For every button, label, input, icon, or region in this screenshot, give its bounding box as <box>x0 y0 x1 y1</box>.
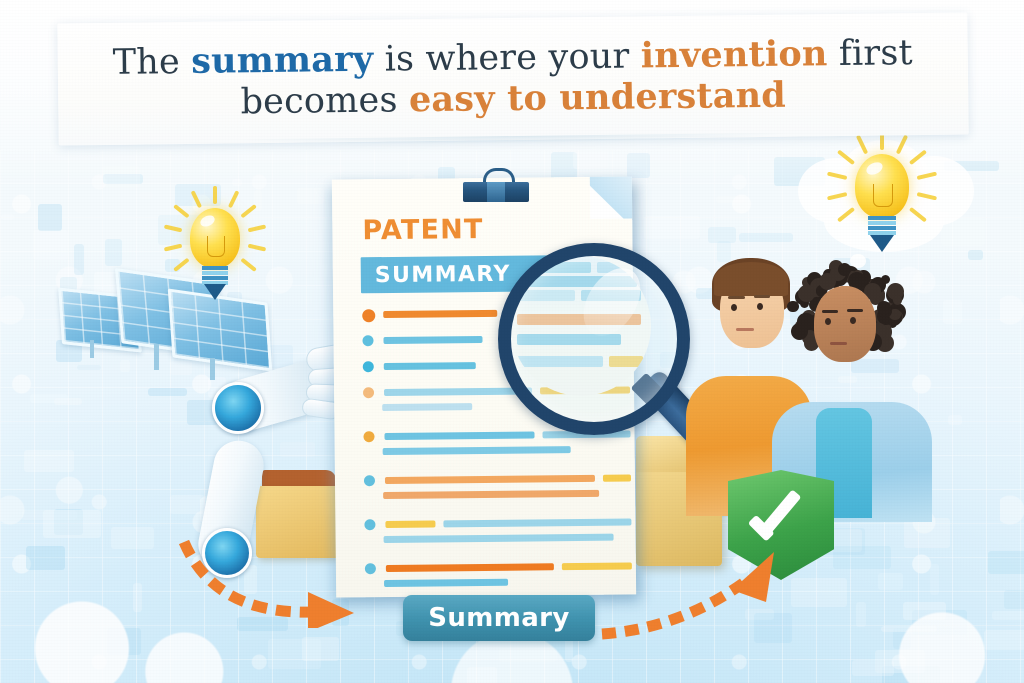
document-band-label: SUMMARY <box>375 262 511 288</box>
illustration-canvas: PATENT SUMMARY <box>0 0 1024 683</box>
document-text-line <box>383 310 497 318</box>
lightbulb-ray <box>213 186 217 204</box>
background-block <box>992 611 1024 620</box>
background-block <box>26 546 65 570</box>
headline-run: The <box>112 42 191 83</box>
lightbulb-ray <box>191 190 202 208</box>
document-text-line <box>383 490 599 499</box>
document-title: PATENT <box>362 214 484 246</box>
background-block <box>133 583 142 612</box>
lightbulb-ray <box>173 258 190 272</box>
headline-line-1: The summary is where your invention firs… <box>112 34 913 84</box>
background-block <box>881 626 937 632</box>
summary-button[interactable]: Summary <box>403 595 595 641</box>
lightbulb-ray <box>228 190 239 208</box>
background-block <box>1 214 14 221</box>
headline-run: is where your <box>373 37 641 80</box>
background-block <box>984 630 1024 650</box>
lightbulb-ray <box>164 224 182 232</box>
document-bullet <box>363 431 374 442</box>
lightbulb-ray <box>909 207 927 223</box>
document-text-line <box>383 336 482 344</box>
hair-curl <box>893 295 903 305</box>
background-block <box>111 527 155 550</box>
background-block <box>943 300 962 324</box>
document-text-line <box>384 534 614 543</box>
binder-clip-icon <box>463 168 529 202</box>
background-block <box>43 510 101 538</box>
background-block <box>739 233 793 242</box>
background-block <box>54 398 82 405</box>
curved-arrow-icon <box>598 538 808 644</box>
lightbulb-icon <box>160 188 270 306</box>
lightbulb-ray <box>173 204 190 218</box>
headline-text: The summary is where your invention firs… <box>57 12 968 145</box>
lightbulb-ray <box>837 207 855 223</box>
headline-run: first <box>827 34 913 75</box>
document-text-line <box>384 362 476 370</box>
background-block <box>1004 590 1024 610</box>
document-text-line <box>443 518 631 527</box>
lightbulb-ray <box>827 192 847 200</box>
background-block <box>105 239 123 266</box>
background-block <box>107 628 141 654</box>
background-block <box>139 192 153 199</box>
lightbulb-ray <box>248 224 266 232</box>
magnifying-glass-icon <box>498 243 704 449</box>
background-block <box>903 602 946 620</box>
background-block <box>297 188 324 204</box>
background-block <box>708 227 736 244</box>
background-block <box>268 639 321 669</box>
document-text-line <box>384 579 508 587</box>
background-block <box>904 518 950 548</box>
document-bullet <box>363 361 374 372</box>
headline-line-2: becomes easy to understand <box>240 76 786 123</box>
document-text-line <box>385 521 435 529</box>
lightbulb-ray <box>917 192 937 200</box>
background-block <box>852 660 894 676</box>
page-fold-corner <box>590 176 632 218</box>
background-block <box>930 564 939 595</box>
document-text-line <box>386 563 554 572</box>
background-block <box>833 546 891 569</box>
headline-run: becomes <box>240 80 409 122</box>
background-block <box>38 204 62 231</box>
summary-button-label: Summary <box>428 603 570 633</box>
lightbulb-ray <box>827 172 847 180</box>
background-block <box>467 667 497 683</box>
curved-arrow-icon <box>178 518 368 628</box>
document-bullet <box>362 309 375 322</box>
document-bullet <box>364 475 375 486</box>
document-bullet <box>362 335 373 346</box>
headline-run: invention <box>640 34 827 77</box>
lightbulb-ray <box>917 172 937 180</box>
document-text-line <box>603 474 631 481</box>
document-text-line <box>382 403 472 411</box>
lightbulb-ray <box>164 244 182 252</box>
background-block <box>24 450 74 471</box>
background-block <box>878 573 903 590</box>
lightbulb-ray <box>240 204 257 218</box>
lightbulb-ray <box>909 150 927 166</box>
background-block <box>33 230 68 260</box>
document-text-line <box>385 475 595 484</box>
background-block <box>988 551 1024 574</box>
background-block <box>499 648 558 662</box>
headline-run: easy to understand <box>409 75 786 121</box>
checkmark-icon <box>752 498 810 532</box>
lightbulb-ray <box>837 150 855 166</box>
headline-run: summary <box>191 39 374 82</box>
background-block <box>948 415 962 425</box>
background-block <box>716 196 745 203</box>
lightbulb-icon <box>818 140 948 256</box>
document-bullet <box>363 387 374 398</box>
lightbulb-ray <box>240 258 257 272</box>
lightbulb-ray <box>248 244 266 252</box>
background-block <box>644 216 700 239</box>
background-block <box>856 602 866 627</box>
hair-curl <box>791 323 808 340</box>
